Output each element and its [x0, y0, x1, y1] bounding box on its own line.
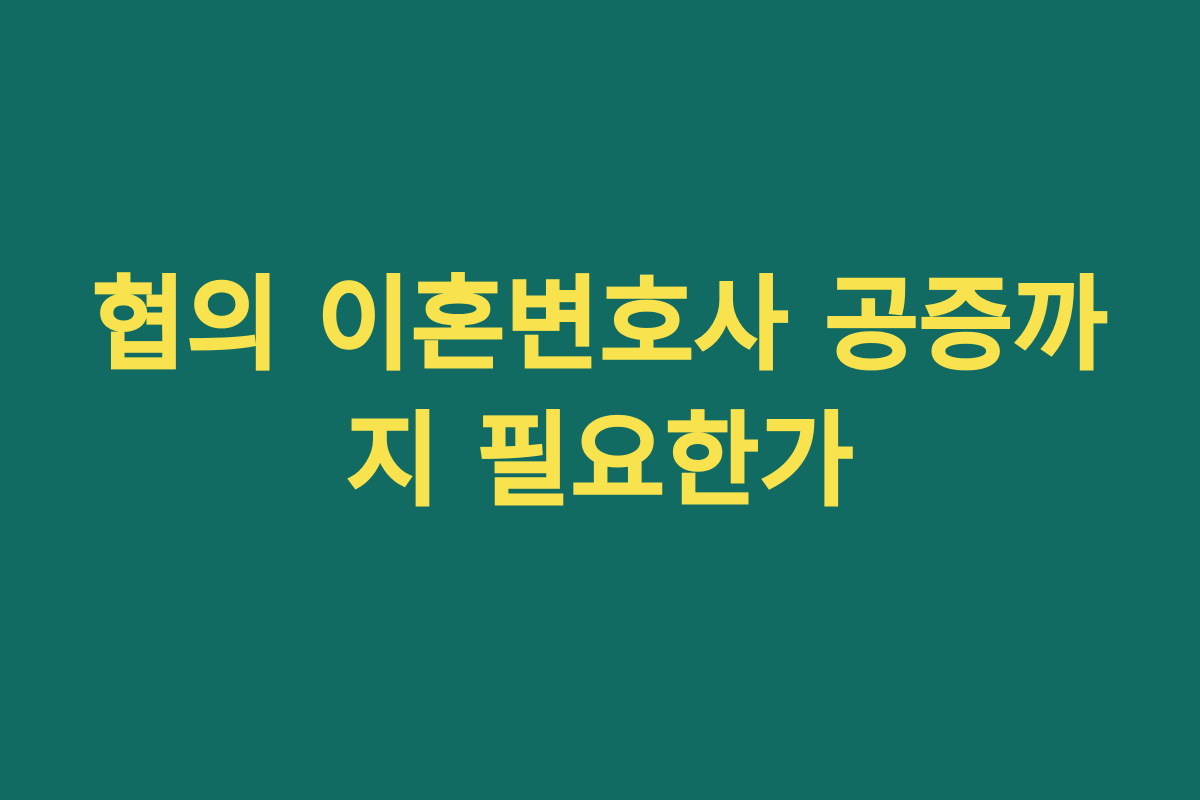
banner-canvas: 협의 이혼변호사 공증까 지 필요한가	[0, 0, 1200, 800]
page-title: 협의 이혼변호사 공증까 지 필요한가	[80, 258, 1120, 529]
